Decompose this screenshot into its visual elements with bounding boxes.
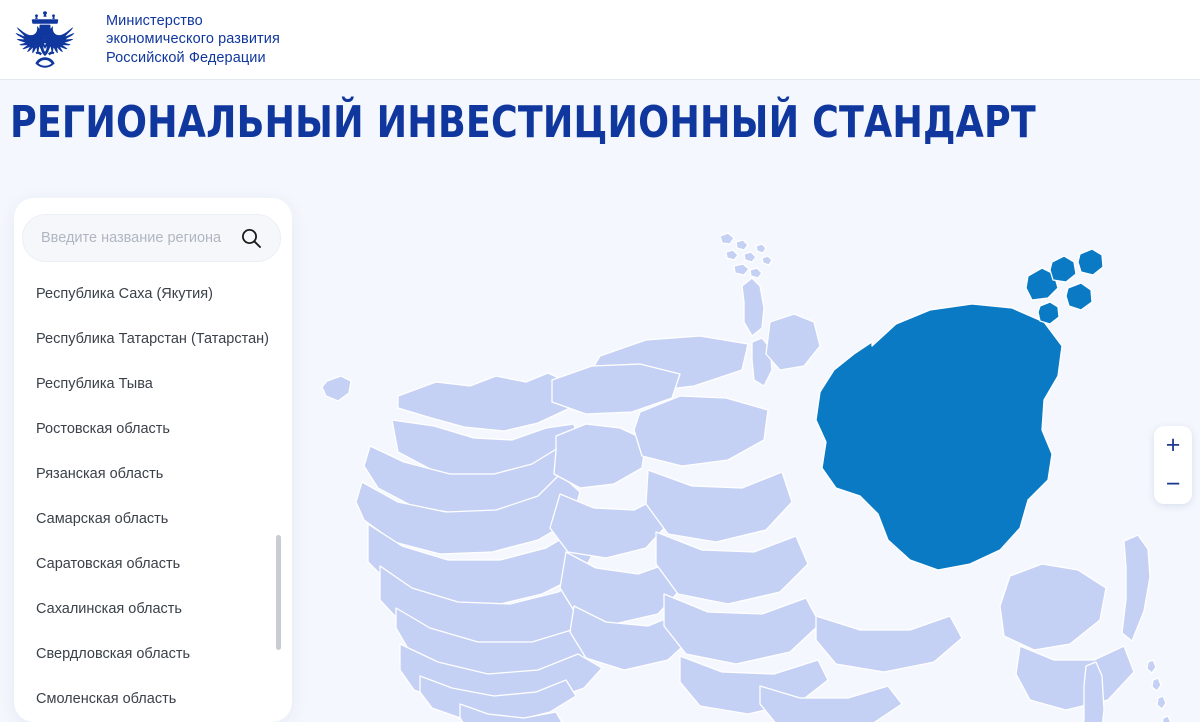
ministry-line-2: экономического развития <box>106 30 280 49</box>
ministry-name: Министерство экономического развития Рос… <box>106 12 280 68</box>
region-list-item[interactable]: Республика Тыва <box>14 374 292 394</box>
ministry-line-1: Министерство <box>106 12 280 31</box>
region-list[interactable]: Республика Саха (Якутия)Республика Татар… <box>14 276 292 722</box>
region-list-scrollbar-thumb[interactable] <box>276 535 281 650</box>
region-list-item[interactable]: Сахалинская область <box>14 599 292 619</box>
search-icon[interactable] <box>240 227 280 249</box>
map-zoom-controls: + − <box>1154 426 1192 504</box>
region-list-item[interactable]: Саратовская область <box>14 554 292 574</box>
zoom-out-button[interactable]: − <box>1154 465 1192 504</box>
region-list-item[interactable]: Самарская область <box>14 509 292 529</box>
ministry-line-3: Российской Федерации <box>106 49 280 68</box>
region-list-item[interactable]: Ростовская область <box>14 419 292 439</box>
region-search-box[interactable] <box>22 214 281 262</box>
zoom-in-button[interactable]: + <box>1154 426 1192 465</box>
russian-coat-of-arms-icon <box>14 8 76 72</box>
region-list-item[interactable]: Смоленская область <box>14 689 292 709</box>
page-root: Министерство экономического развития Рос… <box>0 0 1200 722</box>
region-list-item[interactable]: Рязанская область <box>14 464 292 484</box>
region-list-item[interactable]: Свердловская область <box>14 644 292 664</box>
region-selector-panel: Республика Саха (Якутия)Республика Татар… <box>14 198 292 722</box>
site-header: Министерство экономического развития Рос… <box>0 0 1200 80</box>
region-list-item[interactable]: Республика Татарстан (Татарстан) <box>14 329 292 349</box>
page-title: РЕГИОНАЛЬНЫЙ ИНВЕСТИЦИОННЫЙ СТАНДАРТ <box>10 96 1036 150</box>
search-input[interactable] <box>23 229 240 247</box>
region-list-item[interactable]: Республика Саха (Якутия) <box>14 284 292 304</box>
